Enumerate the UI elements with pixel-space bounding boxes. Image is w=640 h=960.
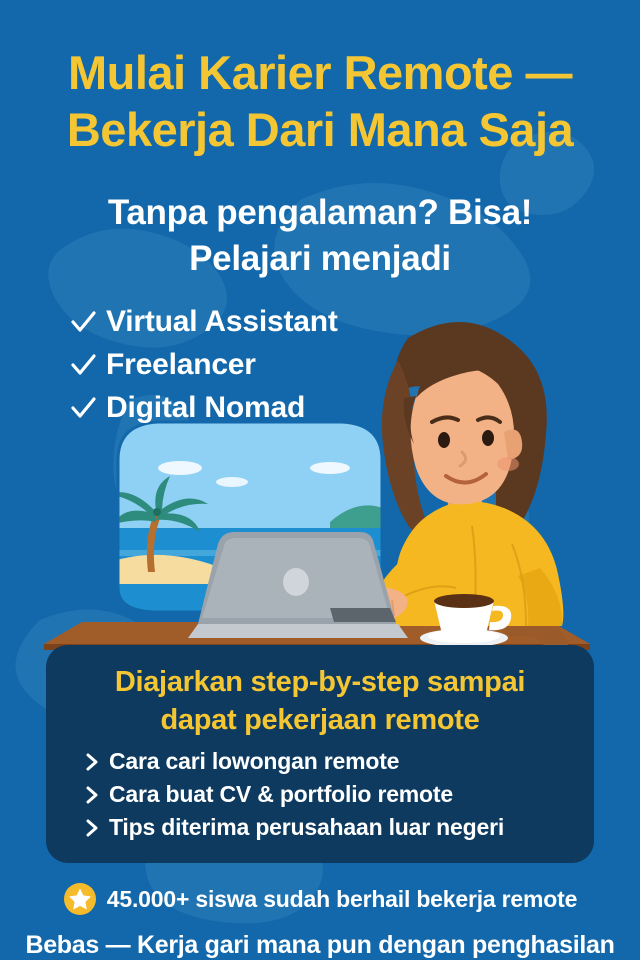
headline-line-2: Bekerja Dari Mana Saja bbox=[0, 101, 640, 158]
footer-tagline: Bebas — Kerja gari mana pun dengan pengh… bbox=[0, 930, 640, 960]
headline-line-1: Mulai Karier Remote — bbox=[68, 46, 572, 99]
subtitle-line-1: Tanpa pengalaman? Bisa! bbox=[108, 193, 532, 232]
laptop bbox=[188, 532, 408, 638]
list-item-label: Tips diterima perusahaan luar negeri bbox=[109, 815, 504, 840]
page-title: Mulai Karier Remote — Bekerja Dari Mana … bbox=[0, 44, 640, 158]
check-icon bbox=[68, 350, 98, 380]
list-item-label: Cara cari lowongan remote bbox=[109, 749, 399, 774]
list-item-label: Freelancer bbox=[106, 349, 256, 381]
benefits-checklist: Virtual Assistant Freelancer Digital Nom… bbox=[68, 300, 338, 429]
list-item: Cara buat CV & portfolio remote bbox=[82, 778, 504, 811]
check-icon bbox=[68, 393, 98, 423]
social-proof-badge: 45.000+ siswa sudah berhail bekerja remo… bbox=[0, 882, 640, 916]
list-item-label: Digital Nomad bbox=[106, 392, 305, 424]
subtitle-line-2: Pelajari menjadi bbox=[0, 236, 640, 282]
list-item: Virtual Assistant bbox=[68, 300, 338, 343]
star-icon bbox=[63, 882, 97, 916]
chevron-right-icon bbox=[82, 817, 102, 839]
card-bullet-list: Cara cari lowongan remote Cara buat CV &… bbox=[82, 745, 504, 844]
list-item: Tips diterima perusahaan luar negeri bbox=[82, 811, 504, 844]
list-item: Cara cari lowongan remote bbox=[82, 745, 504, 778]
card-title: Diajarkan step-by-step sampai dapat peke… bbox=[46, 663, 594, 739]
subtitle: Tanpa pengalaman? Bisa! Pelajari menjadi bbox=[0, 190, 640, 282]
chevron-right-icon bbox=[82, 784, 102, 806]
list-item-label: Cara buat CV & portfolio remote bbox=[109, 782, 453, 807]
poster-root: Mulai Karier Remote — Bekerja Dari Mana … bbox=[0, 0, 640, 960]
card-title-line-2: dapat pekerjaan remote bbox=[46, 701, 594, 739]
list-item: Freelancer bbox=[68, 343, 338, 386]
card-title-line-1: Diajarkan step-by-step sampai bbox=[115, 666, 525, 698]
list-item-label: Virtual Assistant bbox=[106, 306, 338, 338]
status-badge: 45.000+ siswa sudah berhail bekerja remo… bbox=[107, 886, 577, 912]
chevron-right-icon bbox=[82, 751, 102, 773]
check-icon bbox=[68, 307, 98, 337]
course-highlights-card: Diajarkan step-by-step sampai dapat peke… bbox=[46, 645, 594, 863]
list-item: Digital Nomad bbox=[68, 386, 338, 429]
